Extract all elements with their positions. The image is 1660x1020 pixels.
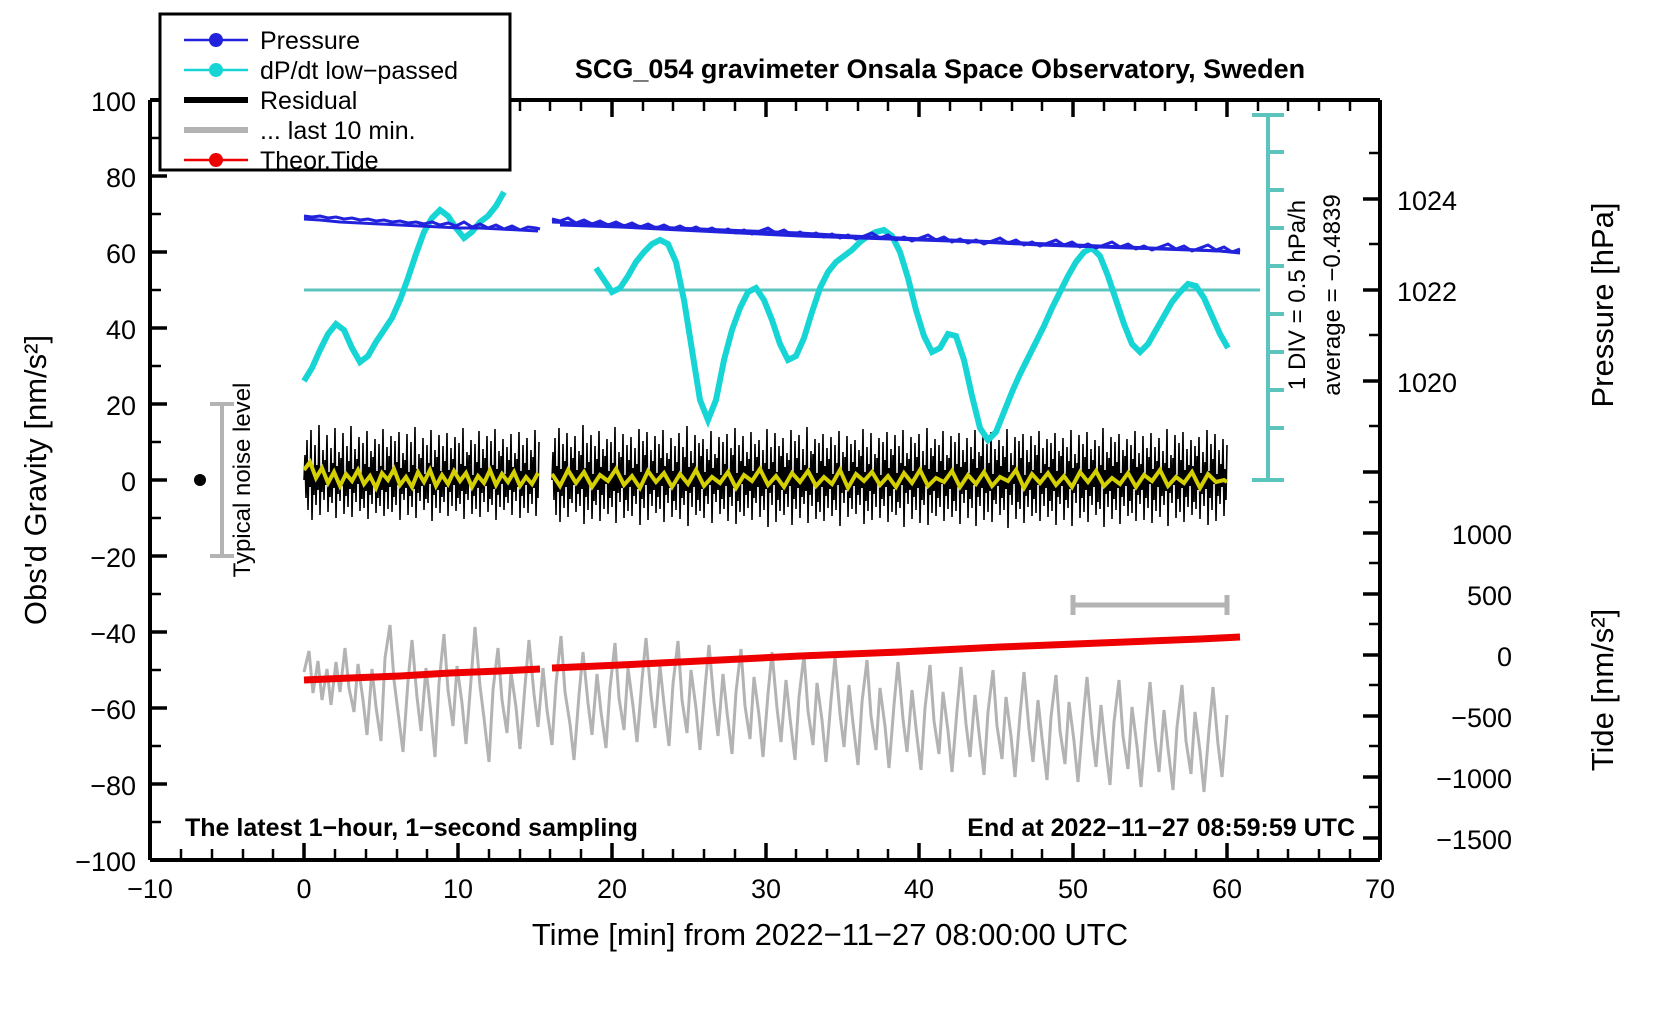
x-tick-label: 40 xyxy=(904,874,934,904)
tide-tick-label: 0 xyxy=(1497,642,1512,672)
y-left-tick-label: 80 xyxy=(106,163,136,193)
tide-tick-label: 1000 xyxy=(1452,520,1512,550)
x-tick-label: 0 xyxy=(296,874,311,904)
legend-swatch-dot xyxy=(209,33,223,47)
tide-tick-label: −1500 xyxy=(1436,825,1512,855)
x-tick-label: 50 xyxy=(1058,874,1088,904)
tide-tick-label: −500 xyxy=(1451,703,1512,733)
y-right-bottom-axis-label: Tide [nm/s²] xyxy=(1585,609,1620,772)
noise-level-label: Typical noise level xyxy=(229,383,256,578)
pressure-tick-label: 1022 xyxy=(1397,277,1457,307)
y-left-axis-label: Obs'd Gravity [nm/s²] xyxy=(18,335,53,625)
x-tick-label: 20 xyxy=(597,874,627,904)
y-left-tick-label: −20 xyxy=(90,543,136,573)
y-left-tick-label: 100 xyxy=(91,87,136,117)
legend-swatch-dot xyxy=(209,63,223,77)
y-left-tick-label: −100 xyxy=(75,847,136,877)
y-left-tick-label: 40 xyxy=(106,315,136,345)
x-tick-label: 10 xyxy=(443,874,473,904)
legend-label: dP/dt low−passed xyxy=(260,57,458,85)
footer-left-label: The latest 1−hour, 1−second sampling xyxy=(185,814,638,842)
pressure-tick-label: 1020 xyxy=(1397,368,1457,398)
x-tick-label: 30 xyxy=(751,874,781,904)
y-left-tick-label: −60 xyxy=(90,695,136,725)
x-tick-label: 60 xyxy=(1212,874,1242,904)
pressure-tick-label: 1024 xyxy=(1397,186,1457,216)
x-axis-label: Time [min] from 2022−11−27 08:00:00 UTC xyxy=(532,917,1128,952)
legend-label: Residual xyxy=(260,87,357,115)
y-left-tick-label: 20 xyxy=(106,391,136,421)
average-label: average = −0.4839 xyxy=(1319,194,1346,396)
x-tick-label: −10 xyxy=(127,874,173,904)
legend-label: Pressure xyxy=(260,27,360,55)
legend-label: Theor.Tide xyxy=(260,147,379,175)
footer-right-label: End at 2022−11−27 08:59:59 UTC xyxy=(967,814,1355,842)
y-left-tick-label: 0 xyxy=(121,467,136,497)
legend: Pressure dP/dt low−passed Residual ... l… xyxy=(160,14,510,175)
legend-swatch-dot xyxy=(209,153,223,167)
x-tick-label: 70 xyxy=(1365,874,1395,904)
page-title: SCG_054 gravimeter Onsala Space Observat… xyxy=(575,54,1305,84)
y-right-top-axis-label: Pressure [hPa] xyxy=(1585,202,1620,407)
div-scale-label: 1 DIV = 0.5 hPa/h xyxy=(1284,200,1311,390)
plot-canvas: −10 0 10 20 30 40 50 60 70 100 80 60 40 … xyxy=(0,0,1660,1020)
tide-tick-label: −1000 xyxy=(1436,764,1512,794)
y-left-tick-label: −40 xyxy=(90,619,136,649)
y-left-tick-label: 60 xyxy=(106,239,136,269)
y-left-tick-label: −80 xyxy=(90,771,136,801)
tide-tick-label: 500 xyxy=(1467,581,1512,611)
legend-label: ... last 10 min. xyxy=(260,117,416,145)
noise-level-dot xyxy=(194,474,206,486)
gravimeter-plot: −10 0 10 20 30 40 50 60 70 100 80 60 40 … xyxy=(0,0,1660,1020)
